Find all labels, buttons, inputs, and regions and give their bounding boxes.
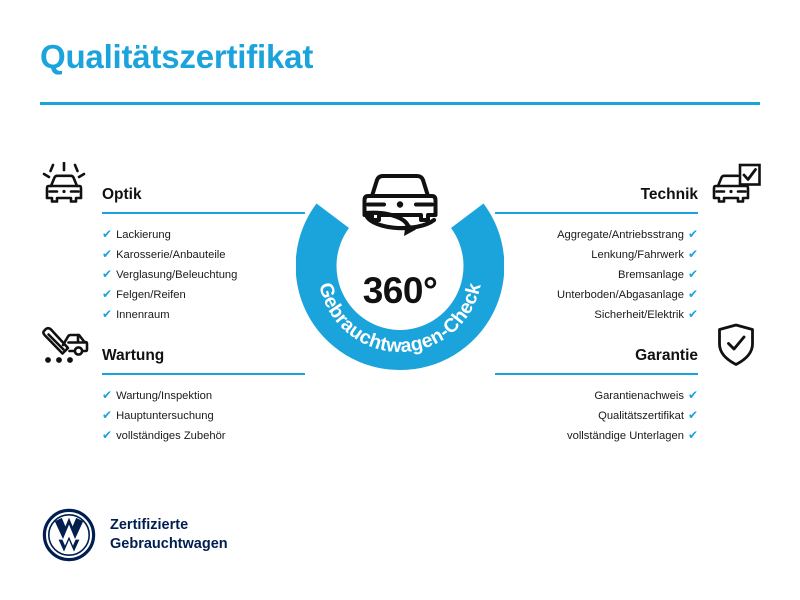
- badge-center-label: 360°: [296, 270, 504, 312]
- list-item: ✔Felgen/Reifen: [102, 285, 305, 305]
- list-item-label: Hauptuntersuchung: [116, 410, 214, 422]
- check-icon: ✔: [688, 245, 698, 264]
- list-item-label: Karosserie/Anbauteile: [116, 249, 225, 261]
- list-item: Aggregate/Antriebsstrang✔: [495, 225, 698, 245]
- check-icon: ✔: [102, 285, 112, 304]
- list-item-label: vollständiges Zubehör: [116, 430, 225, 442]
- section-header: Technik: [495, 160, 760, 206]
- section-divider: [102, 373, 305, 375]
- vw-lockup-line1: Zertifizierte: [110, 517, 188, 533]
- list-item-label: Bremsanlage: [618, 269, 684, 281]
- title-divider: [40, 102, 760, 105]
- list-item-label: Felgen/Reifen: [116, 289, 186, 301]
- check-icon: ✔: [688, 386, 698, 405]
- list-item-label: Verglasung/Beleuchtung: [116, 269, 237, 281]
- section-header: Optik: [40, 160, 305, 206]
- car-rotate-360-icon: [365, 176, 436, 236]
- list-item: Garantienachweis✔: [495, 386, 698, 406]
- list-item-label: Garantienachweis: [594, 390, 684, 402]
- section-item-list: Aggregate/Antriebsstrang✔ Lenkung/Fahrwe…: [495, 225, 698, 325]
- list-item-label: Unterboden/Abgasanlage: [557, 289, 684, 301]
- section-title: Wartung: [102, 347, 164, 365]
- section-title: Optik: [102, 186, 142, 204]
- list-item: ✔vollständiges Zubehör: [102, 426, 305, 446]
- check-icon: ✔: [102, 265, 112, 284]
- shield-check-icon: [708, 321, 764, 369]
- badge-360-gebrauchtwagen-check: Gebrauchtwagen-Check 360°: [296, 158, 504, 378]
- section-item-list: Garantienachweis✔ Qualitätszertifikat✔ v…: [495, 386, 698, 446]
- list-item-label: Lackierung: [116, 229, 171, 241]
- list-item: ✔Verglasung/Beleuchtung: [102, 265, 305, 285]
- check-icon: ✔: [688, 406, 698, 425]
- list-item: ✔Karosserie/Anbauteile: [102, 245, 305, 265]
- list-item-label: Wartung/Inspektion: [116, 390, 212, 402]
- check-icon: ✔: [688, 265, 698, 284]
- check-icon: ✔: [102, 426, 112, 445]
- car-polish-icon: [36, 160, 92, 208]
- badge-ring-graphic: Gebrauchtwagen-Check: [296, 158, 504, 378]
- list-item: Bremsanlage✔: [495, 265, 698, 285]
- section-title: Garantie: [635, 347, 698, 365]
- section-technik: Technik Aggregate/Antriebsstrang✔ Lenkun…: [495, 160, 760, 206]
- check-icon: ✔: [102, 406, 112, 425]
- section-header: Garantie: [495, 321, 760, 367]
- vw-lockup-line2: Gebrauchtwagen: [110, 536, 228, 552]
- check-icon: ✔: [688, 225, 698, 244]
- list-item-label: Aggregate/Antriebsstrang: [557, 229, 684, 241]
- list-item-label: Qualitätszertifikat: [598, 410, 684, 422]
- check-icon: ✔: [688, 426, 698, 445]
- list-item-label: Lenkung/Fahrwerk: [591, 249, 684, 261]
- list-item: ✔Wartung/Inspektion: [102, 386, 305, 406]
- check-icon: ✔: [688, 285, 698, 304]
- list-item-label: Sicherheit/Elektrik: [594, 309, 684, 321]
- section-optik: Optik ✔Lackierung ✔Karosserie/Anbauteile…: [40, 160, 305, 206]
- list-item: Qualitätszertifikat✔: [495, 406, 698, 426]
- check-icon: ✔: [102, 245, 112, 264]
- section-divider: [495, 373, 698, 375]
- wrench-car-icon: [36, 321, 92, 369]
- list-item-label: vollständige Unterlagen: [567, 430, 684, 442]
- section-garantie: Garantie Garantienachweis✔ Qualitätszert…: [495, 321, 760, 367]
- certificate-page: Qualitätszertifikat: [0, 0, 800, 600]
- list-item: vollständige Unterlagen✔: [495, 426, 698, 446]
- vw-certified-lockup: Zertifizierte Gebrauchtwagen: [42, 508, 228, 562]
- section-divider: [102, 212, 305, 214]
- section-item-list: ✔Wartung/Inspektion ✔Hauptuntersuchung ✔…: [102, 386, 305, 446]
- list-item: Unterboden/Abgasanlage✔: [495, 285, 698, 305]
- section-divider: [495, 212, 698, 214]
- list-item: ✔Lackierung: [102, 225, 305, 245]
- vw-logo-icon: [42, 508, 96, 562]
- check-icon: ✔: [102, 225, 112, 244]
- section-wartung: Wartung ✔Wartung/Inspektion ✔Hauptunters…: [40, 321, 305, 367]
- section-header: Wartung: [40, 321, 305, 367]
- list-item: ✔Hauptuntersuchung: [102, 406, 305, 426]
- vw-lockup-text: Zertifizierte Gebrauchtwagen: [110, 516, 228, 554]
- section-item-list: ✔Lackierung ✔Karosserie/Anbauteile ✔Verg…: [102, 225, 305, 325]
- section-title: Technik: [641, 186, 698, 204]
- check-icon: ✔: [102, 386, 112, 405]
- list-item: Lenkung/Fahrwerk✔: [495, 245, 698, 265]
- car-checkbox-icon: [708, 160, 764, 208]
- page-title: Qualitätszertifikat: [40, 39, 313, 75]
- list-item-label: Innenraum: [116, 309, 170, 321]
